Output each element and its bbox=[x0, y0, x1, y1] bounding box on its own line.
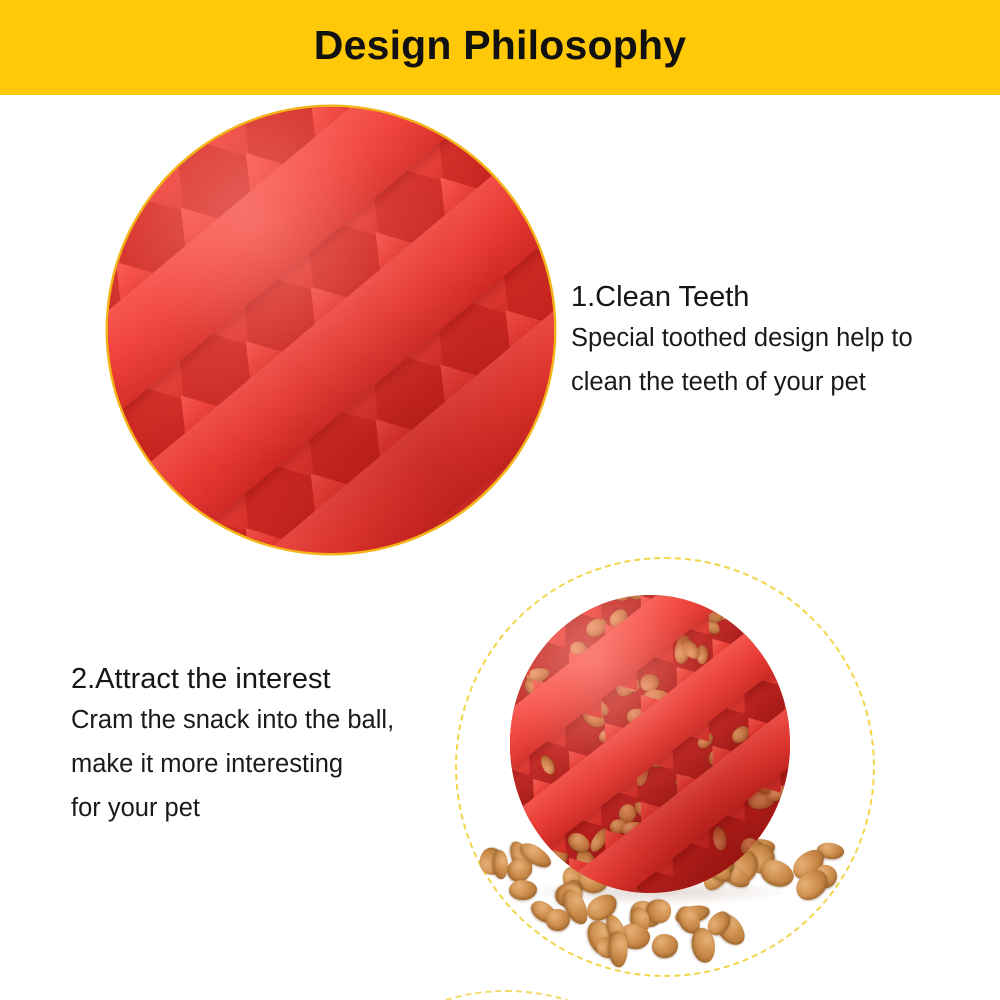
feature-heading: 1.Clean Teeth bbox=[571, 281, 913, 313]
kibble-piece bbox=[545, 909, 569, 932]
feature-body-line: for your pet bbox=[71, 790, 394, 827]
feature-body-line: Special toothed design help to bbox=[571, 320, 913, 357]
red-toothed-rubber-ball-closeup-image bbox=[108, 107, 554, 553]
kibble-piece bbox=[492, 850, 508, 879]
header-banner: Design Philosophy bbox=[0, 0, 1000, 95]
product-image-clean-teeth bbox=[108, 107, 554, 553]
kibble-piece bbox=[608, 931, 628, 968]
kibble-piece bbox=[652, 933, 678, 957]
feature-body-line: make it more interesting bbox=[71, 746, 394, 783]
kibble-piece bbox=[738, 836, 762, 860]
page-title: Design Philosophy bbox=[314, 25, 686, 66]
red-ball-filled-with-kibble-image bbox=[510, 595, 790, 893]
feature-text-clean-teeth: 1.Clean Teeth Special toothed design hel… bbox=[571, 281, 913, 401]
feature-body-line: clean the teeth of your pet bbox=[571, 364, 913, 401]
feature-heading: 2.Attract the interest bbox=[71, 663, 394, 695]
infographic-page: Design Philosophy bbox=[0, 0, 1000, 1000]
red-treat-ball bbox=[510, 595, 790, 893]
product-image-attract-interest bbox=[455, 557, 875, 977]
feature-text-attract-interest: 2.Attract the interest Cram the snack in… bbox=[71, 663, 394, 827]
feature-body-line: Cram the snack into the ball, bbox=[71, 702, 394, 739]
next-section-dashed-arc bbox=[296, 990, 716, 1000]
